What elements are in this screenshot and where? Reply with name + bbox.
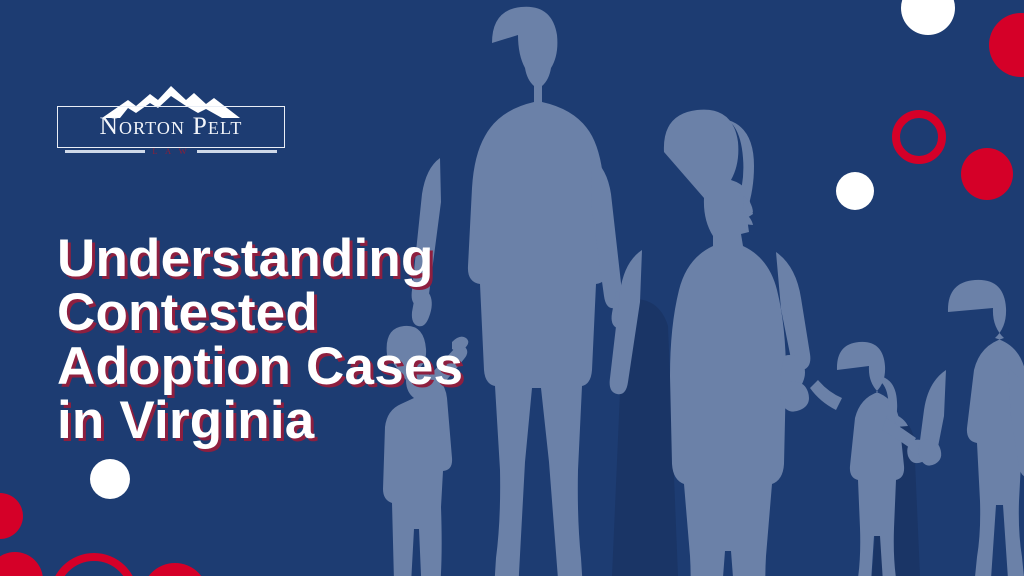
headline: Understanding Contested Adoption Cases i… (57, 232, 617, 448)
logo-tagline-row: L A W (65, 147, 277, 155)
logo-rule-left (65, 150, 145, 153)
red-dot-left-edge (0, 493, 23, 539)
logo-name: Norton Pelt (57, 113, 285, 139)
logo[interactable]: Norton Pelt L A W (57, 86, 285, 158)
white-dot-bottom-left (90, 459, 130, 499)
red-dot-bottom-left (0, 552, 43, 576)
banner-canvas: Norton Pelt L A W Understanding Conteste… (0, 0, 1024, 576)
red-dot-bottom (142, 563, 208, 576)
red-ring-bottom (50, 553, 138, 576)
logo-rule-right (197, 150, 277, 153)
logo-tagline: L A W (152, 147, 189, 156)
